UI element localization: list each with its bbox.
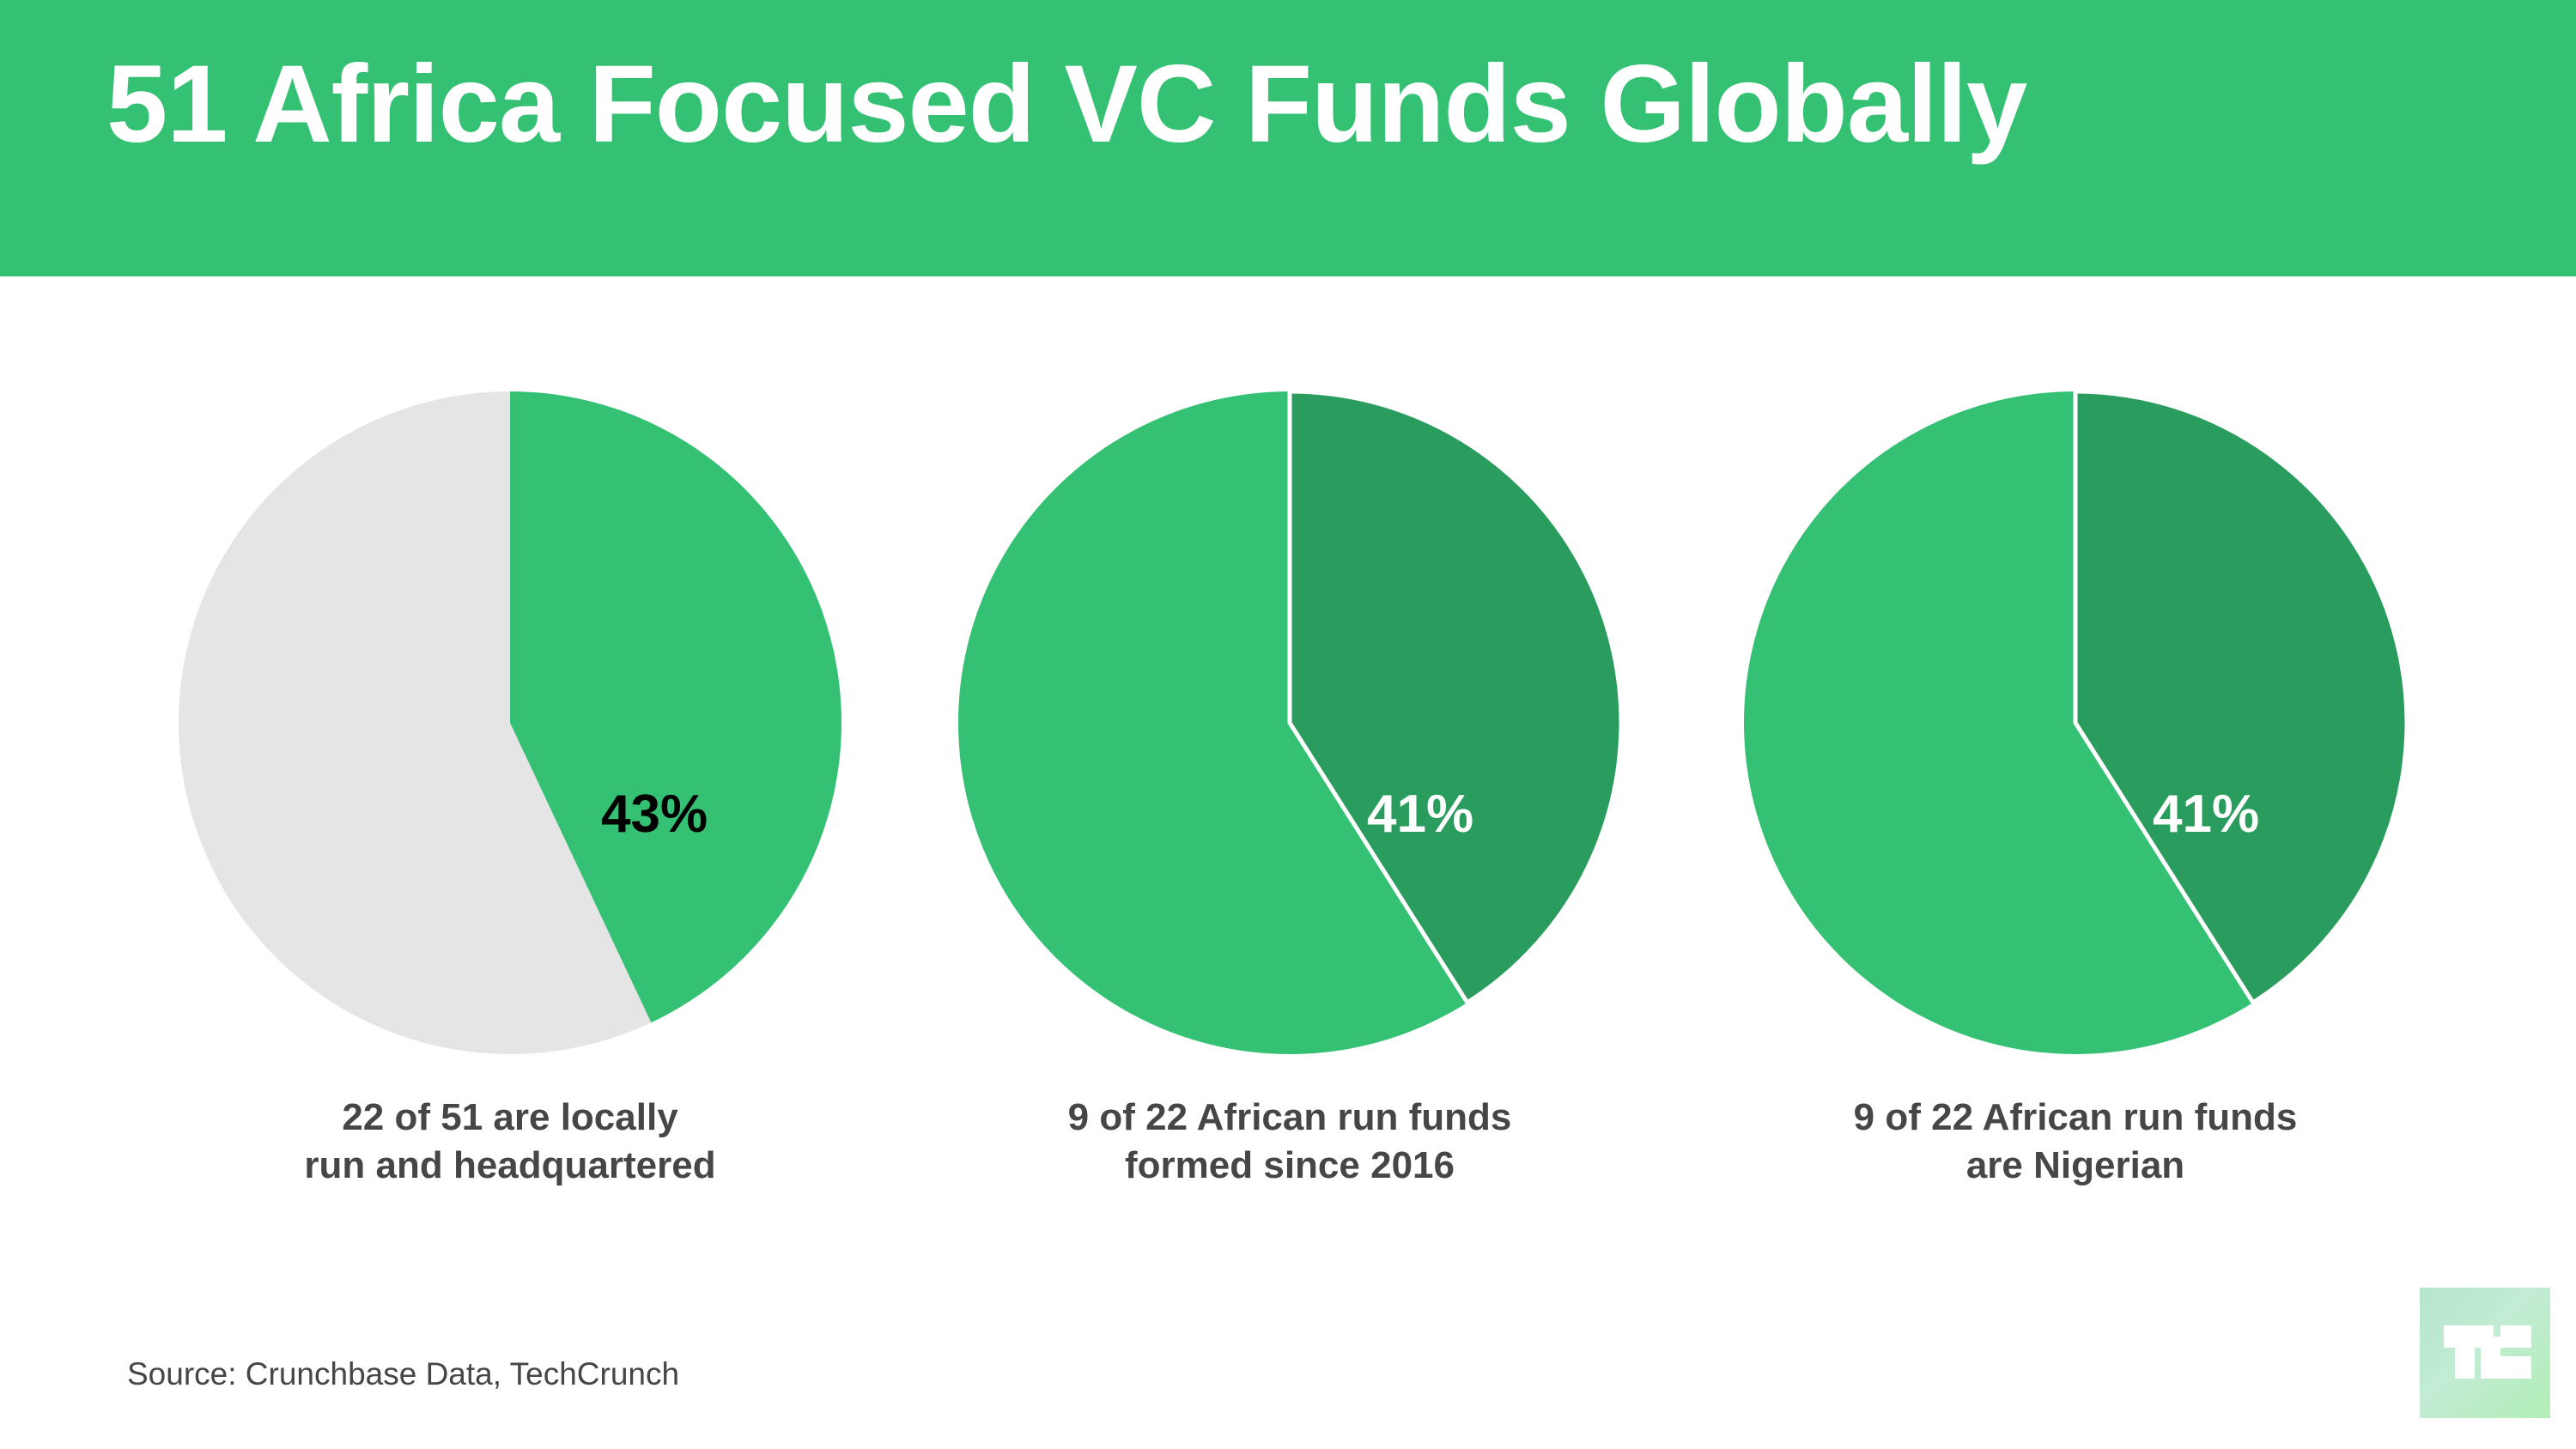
chart-caption-2: 9 of 22 African run funds formed since 2… [895, 1094, 1685, 1191]
caption-line-3b: are Nigerian [1680, 1142, 2470, 1190]
chart-caption-1: 22 of 51 are locally run and headquarter… [115, 1094, 905, 1191]
header-banner: 51 Africa Focused VC Funds Globally [0, 0, 2576, 276]
caption-line-3a: 9 of 22 African run funds [1680, 1094, 2470, 1142]
source-note: Source: Crunchbase Data, TechCrunch [127, 1356, 679, 1392]
caption-line-2a: 9 of 22 African run funds [895, 1094, 1685, 1142]
pie-chart-locally-run: 43% [179, 391, 841, 1054]
pie-percentage-label-1: 43% [601, 788, 708, 841]
caption-line-1a: 22 of 51 are locally [115, 1094, 905, 1142]
pie-chart-nigerian: 41% [1744, 391, 2407, 1054]
pie-percentage-label-2: 41% [1367, 788, 1473, 841]
pie-svg-3 [1744, 391, 2407, 1054]
chart-block-locally-run: 43% 22 of 51 are locally run and headqua… [115, 276, 905, 1246]
pie-svg-1 [179, 391, 841, 1054]
techcrunch-logo-icon [2420, 1288, 2550, 1418]
pie-svg-2 [958, 391, 1621, 1054]
page-title: 51 Africa Focused VC Funds Globally [106, 50, 2026, 160]
caption-line-1b: run and headquartered [115, 1142, 905, 1190]
chart-caption-3: 9 of 22 African run funds are Nigerian [1680, 1094, 2470, 1191]
charts-row: 43% 22 of 51 are locally run and headqua… [0, 276, 2576, 1246]
techcrunch-logo [2420, 1288, 2550, 1418]
chart-block-nigerian: 41% 9 of 22 African run funds are Nigeri… [1680, 276, 2470, 1246]
chart-block-formed-since-2016: 41% 9 of 22 African run funds formed sin… [895, 276, 1685, 1246]
pie-percentage-label-3: 41% [2153, 788, 2259, 841]
pie-chart-formed-since-2016: 41% [958, 391, 1621, 1054]
caption-line-2b: formed since 2016 [895, 1142, 1685, 1190]
